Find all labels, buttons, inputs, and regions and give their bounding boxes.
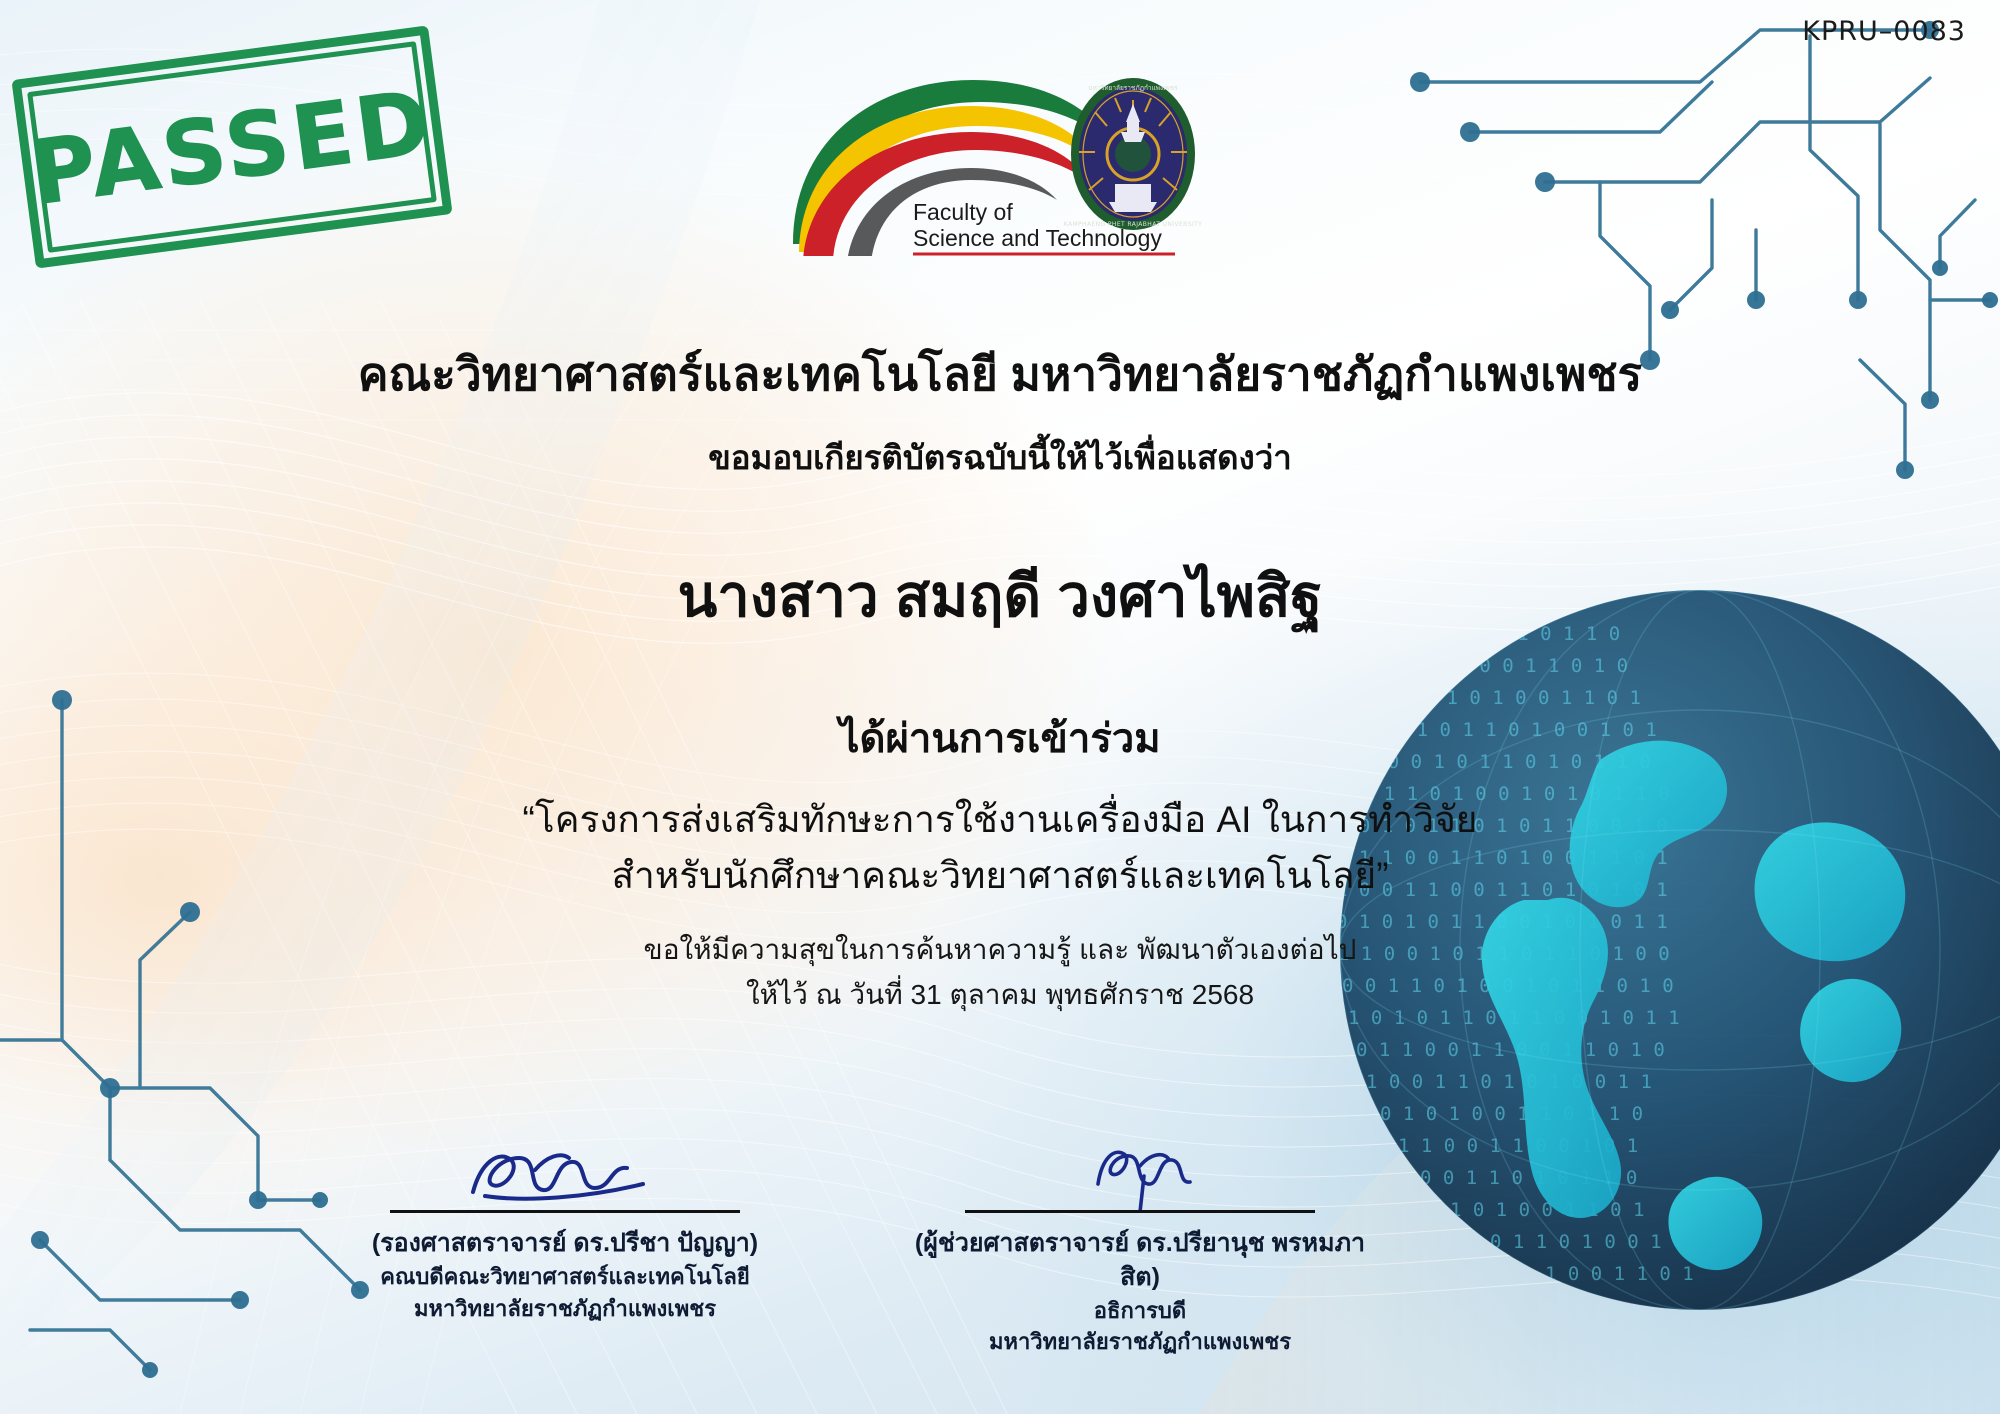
svg-text:1 0 0 1 1 0 1 0 1 0 0 1 1: 1 0 0 1 1 0 1 0 1 0 0 1 1 bbox=[1366, 1071, 1652, 1093]
university-seal-icon: มหาวิทยาลัยราชภัฏกำแพงเพชร KAMPHAENG PHE… bbox=[1064, 78, 1203, 230]
passed-stamp: PASSED bbox=[11, 25, 452, 268]
signature-name-president: (ผู้ช่วยศาสตราจารย์ ดร.ปรียานุช พรหมภาสิ… bbox=[905, 1227, 1375, 1295]
svg-text:0 1 1 0 1 0 0 1 1 0 1 0: 0 1 1 0 1 0 0 1 1 0 1 0 bbox=[1365, 655, 1628, 677]
reference-number: KPRU–0083 bbox=[1802, 16, 1966, 47]
page-title: คณะวิทยาศาสตร์และเทคโนโลยี มหาวิทยาลัยรา… bbox=[0, 348, 2000, 401]
project-title-line1: “โครงการส่งเสริมทักษะการใช้งานเครื่องมือ… bbox=[0, 792, 2000, 848]
signature-line-president bbox=[965, 1210, 1315, 1213]
signature-mark-dean bbox=[330, 1140, 800, 1210]
signature-name-dean: (รองศาสตราจารย์ ดร.ปรีชา ปัญญา) bbox=[330, 1227, 800, 1261]
participation-line: ได้ผ่านการเข้าร่วม bbox=[0, 715, 2000, 763]
faculty-line1: Faculty of bbox=[913, 199, 1013, 225]
signature-block-president: (ผู้ช่วยศาสตราจารย์ ดร.ปรียานุช พรหมภาสิ… bbox=[905, 1140, 1375, 1358]
svg-text:0 0 1 1 0 1 0 1 1 0: 0 0 1 1 0 1 0 1 1 0 bbox=[1420, 1167, 1637, 1189]
svg-text:0 1 1 0 1 0 0 1: 0 1 1 0 1 0 0 1 bbox=[1490, 1231, 1662, 1253]
seal-top-text: มหาวิทยาลัยราชภัฏกำแพงเพชร bbox=[1088, 84, 1178, 92]
svg-text:1 0 0 1 1 0 1 0 0 1 1 0 1: 1 0 0 1 1 0 1 0 0 1 1 0 1 bbox=[1355, 687, 1641, 709]
svg-text:0 1 1 0 0 1 1 0 0 1 1 0 1 0: 0 1 1 0 0 1 1 0 0 1 1 0 1 0 bbox=[1356, 1039, 1665, 1061]
signature-org-president: มหาวิทยาลัยราชภัฏกำแพงเพชร bbox=[905, 1326, 1375, 1358]
svg-text:1 0 0 1 1 0 1: 1 0 0 1 1 0 1 bbox=[1545, 1263, 1694, 1285]
faculty-logo-icon: Faculty of Science and Technology bbox=[785, 66, 1215, 256]
closing-text: ขอให้มีความสุขในการค้นหาความรู้ และ พัฒน… bbox=[0, 928, 2000, 1018]
award-subtitle: ขอมอบเกียรติบัตรฉบับนี้ให้ไว้เพื่อแสดงว่… bbox=[0, 438, 2000, 478]
signature-role-dean: คณบดีคณะวิทยาศาสตร์และเทคโนโลยี bbox=[330, 1261, 800, 1293]
seal-bottom-text: KAMPHAENG PHET RAJABHAT UNIVERSITY bbox=[1064, 221, 1203, 228]
signature-role-president: อธิการบดี bbox=[905, 1295, 1375, 1327]
wish-line: ขอให้มีความสุขในการค้นหาความรู้ และ พัฒน… bbox=[0, 928, 2000, 973]
signature-mark-president bbox=[905, 1140, 1375, 1210]
project-title: “โครงการส่งเสริมทักษะการใช้งานเครื่องมือ… bbox=[0, 792, 2000, 903]
project-title-line2: สำหรับนักศึกษาคณะวิทยาศาสตร์และเทคโนโลยี… bbox=[0, 848, 2000, 904]
certificate-page: 1 0 1 1 0 0 1 0 1 1 0 0 1 1 0 1 0 0 1 1 … bbox=[0, 0, 2000, 1414]
signature-org-dean: มหาวิทยาลัยราชภัฏกำแพงเพชร bbox=[330, 1293, 800, 1325]
svg-text:0 1 0 1 0 0 1 1 0 1 1 0: 0 1 0 1 0 0 1 1 0 1 1 0 bbox=[1380, 1103, 1643, 1125]
svg-text:1 0 1 0 0 1 1 0 1: 1 0 1 0 0 1 1 0 1 bbox=[1450, 1199, 1644, 1221]
svg-text:1 1 0 0 1 1 0 0 1 0 1: 1 1 0 0 1 1 0 0 1 0 1 bbox=[1398, 1135, 1638, 1157]
signature-block-dean: (รองศาสตราจารย์ ดร.ปรีชา ปัญญา) คณบดีคณะ… bbox=[330, 1140, 800, 1325]
recipient-name: นางสาว สมฤดี วงศาไพสิฐ bbox=[0, 562, 2000, 632]
date-line: ให้ไว้ ณ วันที่ 31 ตุลาคม พุทธศักราช 256… bbox=[0, 973, 2000, 1018]
signature-line-dean bbox=[390, 1210, 740, 1213]
stamp-label: PASSED bbox=[11, 25, 452, 268]
logo-block: Faculty of Science and Technology bbox=[785, 66, 1215, 256]
